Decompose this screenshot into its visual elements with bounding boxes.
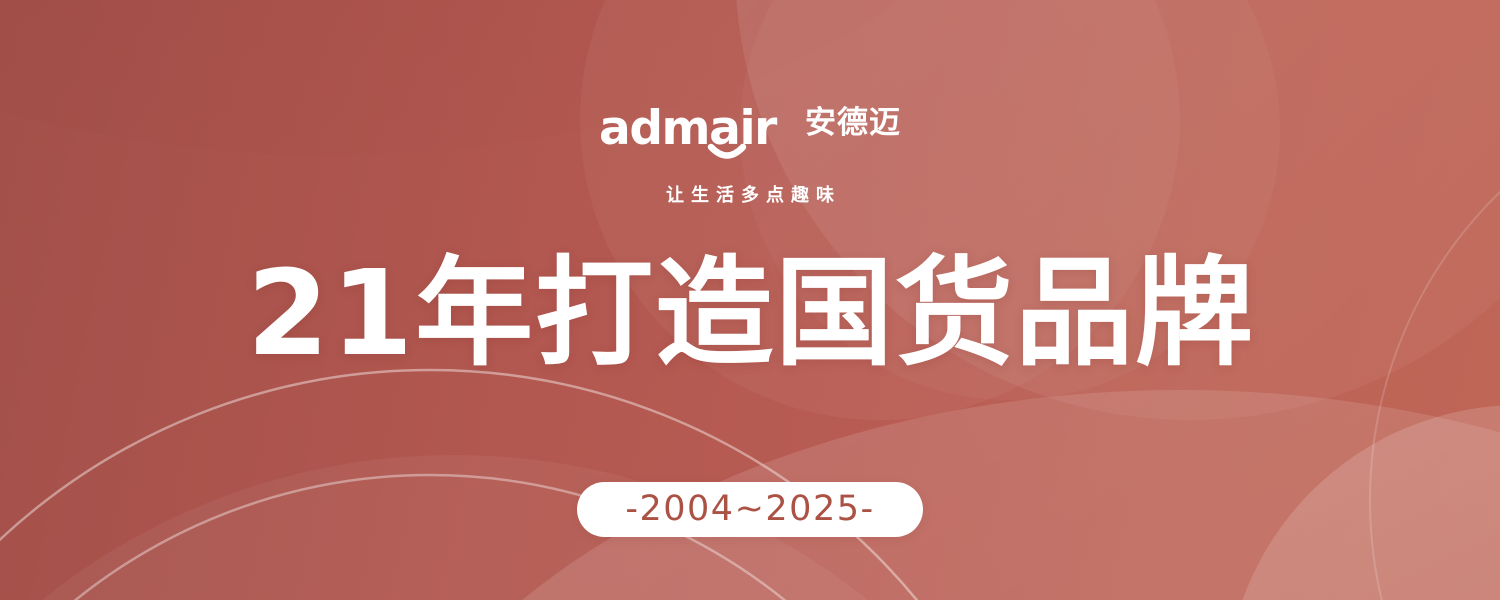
banner-content: admair 安德迈 让生活多点趣味 21年打造国货品牌 -2004~2025- [0,0,1500,600]
date-range-badge: -2004~2025- [577,482,923,537]
banner-headline: 21年打造国货品牌 [245,254,1255,372]
admair-wordmark: admair [599,101,791,163]
promo-banner: admair 安德迈 让生活多点趣味 21年打造国货品牌 -2004~2025- [0,0,1500,600]
date-range-label: -2004~2025- [625,492,874,527]
admair-wordmark-chinese: 安德迈 [805,108,901,139]
brand-logo-lockup: admair 安德迈 [599,101,901,163]
brand-tagline: 让生活多点趣味 [659,187,841,205]
admair-wordmark-text: admair [599,101,778,156]
